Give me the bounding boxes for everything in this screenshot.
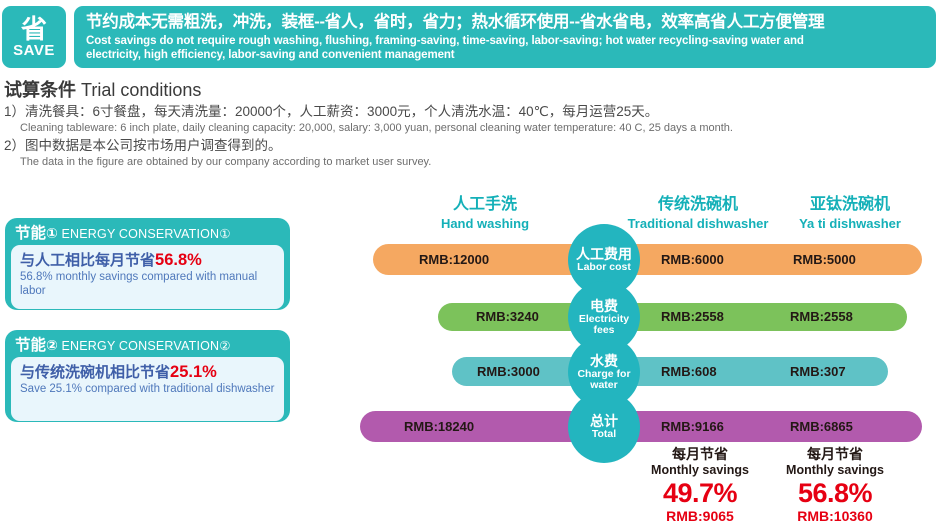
badge-total-en: Total bbox=[592, 429, 616, 441]
bar-label-labor-cost-hand: RMB:12000 bbox=[419, 253, 489, 267]
energy-panel-1-percent: 56.8% bbox=[155, 251, 202, 269]
banner-headline-en-line1: Cost savings do not require rough washin… bbox=[86, 34, 926, 48]
column-header-hand-washing-cn: 人工手洗 bbox=[405, 195, 565, 215]
trial-item1-cn: 1）清洗餐具：6寸餐盘，每天清洗量：20000个，人工薪资：3000元，个人清洗… bbox=[4, 102, 934, 121]
energy-panel-2-sub-en: Save 25.1% compared with traditional dis… bbox=[20, 383, 276, 397]
trial-title-en: Trial conditions bbox=[81, 80, 201, 100]
header-banner: 省 SAVE 节约成本无需粗洗，冲洗，装框--省人，省时，省力；热水循环使用--… bbox=[0, 6, 940, 68]
column-header-hand-washing: 人工手洗 Hand washing bbox=[405, 195, 565, 232]
energy-panel-2-main: 与传统洗碗机相比节省25.1% bbox=[20, 362, 276, 383]
bar-label-labor-cost-yati: RMB:5000 bbox=[793, 253, 856, 267]
energy-panel-2-head-en: ENERGY CONSERVATION bbox=[62, 339, 220, 353]
energy-panel-2-head-cn: 节能 bbox=[15, 337, 46, 354]
badge-labor-cost-en: Labor cost bbox=[577, 262, 631, 274]
energy-panel-1-body: 与人工相比每月节省56.8% 56.8% monthly savings com… bbox=[11, 245, 284, 309]
column-header-traditional-dishwasher-cn: 传统洗碗机 bbox=[608, 195, 788, 215]
energy-conservation-panel-2: 节能② ENERGY CONSERVATION② 与传统洗碗机相比节省25.1%… bbox=[5, 330, 290, 422]
trial-item2-en: The data in the figure are obtained by o… bbox=[4, 155, 934, 170]
energy-panel-2-header: 节能② ENERGY CONSERVATION② bbox=[11, 334, 284, 357]
save-logo: 省 SAVE bbox=[2, 6, 66, 68]
energy-panel-1-head-en-num: ① bbox=[219, 227, 230, 241]
badge-labor-cost-cn: 人工费用 bbox=[576, 246, 632, 262]
column-header-traditional-dishwasher: 传统洗碗机 Traditional dishwasher bbox=[608, 195, 788, 232]
energy-panel-1-head-en: ENERGY CONSERVATION bbox=[62, 227, 220, 241]
energy-panel-2-head-num: ② bbox=[46, 337, 58, 353]
energy-panel-2-head-en-num: ② bbox=[219, 339, 230, 353]
monthly-savings-traditional: 每月节省 Monthly savings 49.7% RMB:9065 bbox=[625, 446, 775, 525]
bar-label-water-hand: RMB:3000 bbox=[477, 365, 540, 379]
save-logo-cn: 省 bbox=[21, 16, 47, 42]
bar-label-labor-cost-traditional: RMB:6000 bbox=[661, 253, 724, 267]
badge-total-cn: 总计 bbox=[590, 413, 618, 429]
column-header-traditional-dishwasher-en: Traditional dishwasher bbox=[608, 215, 788, 232]
monthly-savings-traditional-cn: 每月节省 bbox=[625, 446, 775, 463]
trial-conditions-section: 试算条件 Trial conditions 1）清洗餐具：6寸餐盘，每天清洗量：… bbox=[4, 78, 934, 170]
energy-panel-1-sub-en: 56.8% monthly savings compared with manu… bbox=[20, 271, 276, 298]
badge-charge-for-water-en: Charge for water bbox=[568, 369, 640, 392]
monthly-savings-traditional-rmb: RMB:9065 bbox=[625, 508, 775, 525]
save-logo-en: SAVE bbox=[13, 42, 55, 59]
trial-title-cn: 试算条件 bbox=[4, 80, 76, 100]
monthly-savings-yati: 每月节省 Monthly savings 56.8% RMB:10360 bbox=[760, 446, 910, 525]
energy-panel-1-main-cn: 与人工相比每月节省 bbox=[20, 252, 155, 269]
energy-panel-2-body: 与传统洗碗机相比节省25.1% Save 25.1% compared with… bbox=[11, 357, 284, 421]
trial-item2-cn: 2）图中数据是本公司按市场用户调查得到的。 bbox=[4, 136, 934, 155]
banner-text-block: 节约成本无需粗洗，冲洗，装框--省人，省时，省力；热水循环使用--省水省电，效率… bbox=[74, 6, 936, 68]
bar-label-total-hand: RMB:18240 bbox=[404, 420, 474, 434]
bar-label-electricity-yati: RMB:2558 bbox=[790, 310, 853, 324]
monthly-savings-traditional-en: Monthly savings bbox=[625, 463, 775, 478]
bar-label-water-traditional: RMB:608 bbox=[661, 365, 717, 379]
bar-label-total-yati: RMB:6865 bbox=[790, 420, 853, 434]
column-header-yati-dishwasher-en: Ya ti dishwasher bbox=[770, 215, 930, 232]
energy-conservation-panel-1: 节能① ENERGY CONSERVATION① 与人工相比每月节省56.8% … bbox=[5, 218, 290, 310]
monthly-savings-yati-percent: 56.8% bbox=[760, 478, 910, 508]
bar-label-electricity-traditional: RMB:2558 bbox=[661, 310, 724, 324]
bar-label-total-traditional: RMB:9166 bbox=[661, 420, 724, 434]
badge-charge-for-water-cn: 水费 bbox=[590, 353, 618, 369]
badge-electricity-fees-cn: 电费 bbox=[590, 298, 618, 314]
badge-electricity-fees-en: Electricity fees bbox=[568, 314, 640, 337]
energy-panel-2-main-cn: 与传统洗碗机相比节省 bbox=[20, 364, 170, 381]
banner-headline-en-line2: electricity, high efficiency, labor-savi… bbox=[86, 48, 926, 62]
trial-item1-en: Cleaning tableware: 6 inch plate, daily … bbox=[4, 121, 934, 136]
energy-panel-1-header: 节能① ENERGY CONSERVATION① bbox=[11, 222, 284, 245]
monthly-savings-traditional-percent: 49.7% bbox=[625, 478, 775, 508]
monthly-savings-yati-en: Monthly savings bbox=[760, 463, 910, 478]
column-header-hand-washing-en: Hand washing bbox=[405, 215, 565, 232]
energy-panel-1-head-num: ① bbox=[46, 225, 58, 241]
bar-label-electricity-hand: RMB:3240 bbox=[476, 310, 539, 324]
energy-panel-1-main: 与人工相比每月节省56.8% bbox=[20, 250, 276, 271]
energy-panel-2-percent: 25.1% bbox=[170, 363, 217, 381]
trial-conditions-title: 试算条件 Trial conditions bbox=[4, 78, 934, 102]
column-header-yati-dishwasher: 亚钛洗碗机 Ya ti dishwasher bbox=[770, 195, 930, 232]
bar-label-water-yati: RMB:307 bbox=[790, 365, 846, 379]
banner-headline-cn: 节约成本无需粗洗，冲洗，装框--省人，省时，省力；热水循环使用--省水省电，效率… bbox=[86, 10, 926, 34]
column-header-yati-dishwasher-cn: 亚钛洗碗机 bbox=[770, 195, 930, 215]
monthly-savings-yati-rmb: RMB:10360 bbox=[760, 508, 910, 525]
monthly-savings-yati-cn: 每月节省 bbox=[760, 446, 910, 463]
energy-panel-1-head-cn: 节能 bbox=[15, 225, 46, 242]
